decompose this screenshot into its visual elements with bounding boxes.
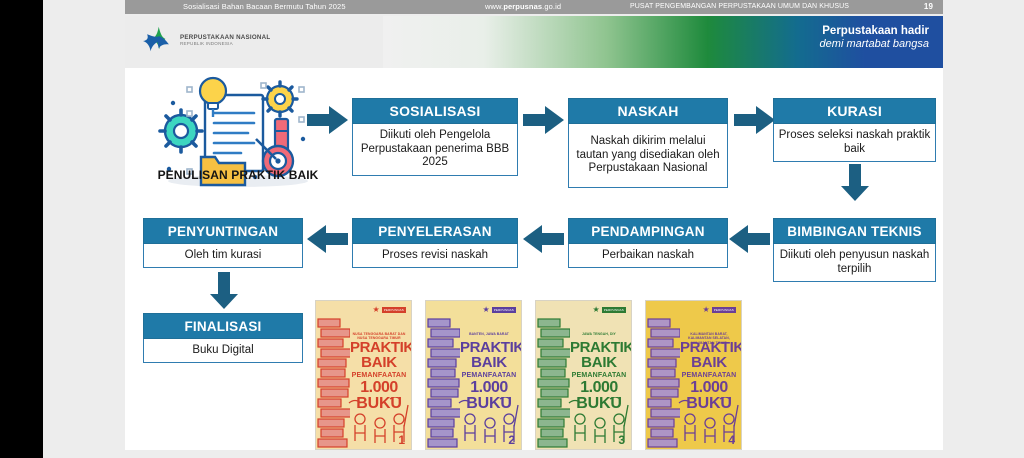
book-title-l4: 1.000 bbox=[350, 380, 408, 396]
top-bar-url: www.perpusnas.go.id bbox=[485, 0, 561, 14]
document-top-bar: Sosialisasi Bahan Bacaan Bermutu Tahun 2… bbox=[125, 0, 943, 14]
node-bimbingan-teknis[interactable]: BIMBINGAN TEKNIS Diikuti oleh penyusun n… bbox=[773, 218, 936, 282]
book-number: 2 bbox=[508, 433, 515, 447]
book-title-l2: BAIK bbox=[680, 355, 738, 371]
book-cover-2[interactable]: ★PERPUSNASBANTEN, JAWA BARATPRAKTIKBAIKP… bbox=[425, 300, 522, 450]
node-pendampingan-body: Perbaikan naskah bbox=[568, 244, 728, 268]
book-stack-illustration bbox=[426, 315, 460, 450]
star-icon: ★ bbox=[483, 306, 490, 314]
tagline-line-1: Perpustakaan hadir bbox=[779, 25, 929, 38]
publisher-tag: PERPUSNAS bbox=[492, 307, 516, 313]
perpusnas-star-icon bbox=[141, 24, 175, 58]
publisher-tag: PERPUSNAS bbox=[382, 307, 406, 313]
arrow-down-1 bbox=[840, 164, 870, 202]
slide-header-band: PERPUSTAKAAN NASIONAL REPUBLIK INDONESIA… bbox=[125, 16, 943, 68]
header-tagline: Perpustakaan hadir demi martabat bangsa bbox=[779, 25, 929, 51]
node-pendampingan[interactable]: PENDAMPINGAN Perbaikan naskah bbox=[568, 218, 728, 268]
publisher-tag: PERPUSNAS bbox=[602, 307, 626, 313]
book-cover-1[interactable]: ★PERPUSNASNUSA TENGGARA BARAT DAN NUSA T… bbox=[315, 300, 412, 450]
slide-canvas: PERPUSTAKAAN NASIONAL REPUBLIK INDONESIA… bbox=[125, 16, 943, 450]
logo-wordmark: PERPUSTAKAAN NASIONAL REPUBLIK INDONESIA bbox=[180, 35, 270, 46]
illustration-caption: PENULISAN PRAKTIK BAIK bbox=[133, 168, 343, 182]
node-sosialisasi-body: Diikuti oleh Pengelola Perpustakaan pene… bbox=[352, 124, 518, 176]
arrow-right-2 bbox=[523, 105, 565, 135]
node-naskah-title: NASKAH bbox=[568, 98, 728, 124]
book-stack-illustration bbox=[536, 315, 570, 450]
book-region-label: JAWA TENGAH, DIY bbox=[572, 332, 626, 336]
node-bimbingan-teknis-body: Diikuti oleh penyusun naskah terpilih bbox=[773, 244, 936, 282]
book-publisher-logo: ★PERPUSNAS bbox=[703, 306, 736, 314]
node-sosialisasi[interactable]: SOSIALISASI Diikuti oleh Pengelola Perpu… bbox=[352, 98, 518, 176]
node-finalisasi[interactable]: FINALISASI Buku Digital bbox=[143, 313, 303, 363]
book-publisher-logo: ★PERPUSNAS bbox=[373, 306, 406, 314]
arrow-left-1 bbox=[729, 224, 771, 254]
book-title-l2: BAIK bbox=[350, 355, 408, 371]
perpusnas-logo: PERPUSTAKAAN NASIONAL REPUBLIK INDONESIA bbox=[141, 24, 270, 58]
node-kurasi-title: KURASI bbox=[773, 98, 936, 124]
book-title-l1: PRAKTIK bbox=[460, 340, 518, 355]
book-title-l2: BAIK bbox=[570, 355, 628, 371]
node-naskah-body: Naskah dikirim melalui tautan yang dised… bbox=[568, 124, 728, 188]
process-flow-diagram: PENULISAN PRAKTIK BAIK SOSIALISASI Diiku… bbox=[125, 68, 943, 450]
book-title-l4: 1.000 bbox=[570, 380, 628, 396]
node-penyuntingan-body: Oleh tim kurasi bbox=[143, 244, 303, 268]
book-title-l1: PRAKTIK bbox=[570, 340, 628, 355]
arrow-left-3 bbox=[307, 224, 349, 254]
book-title-l2: BAIK bbox=[460, 355, 518, 371]
publisher-tag: PERPUSNAS bbox=[712, 307, 736, 313]
node-kurasi[interactable]: KURASI Proses seleksi naskah praktik bai… bbox=[773, 98, 936, 162]
book-number: 3 bbox=[618, 433, 625, 447]
star-icon: ★ bbox=[593, 306, 600, 314]
node-penyuntingan-title: PENYUNTINGAN bbox=[143, 218, 303, 244]
url-bold: perpusnas bbox=[503, 2, 542, 11]
book-publisher-logo: ★PERPUSNAS bbox=[593, 306, 626, 314]
book-number: 4 bbox=[728, 433, 735, 447]
node-penyelerasan-title: PENYELERASAN bbox=[352, 218, 518, 244]
book-title-l4: 1.000 bbox=[460, 380, 518, 396]
logo-line-2: REPUBLIK INDONESIA bbox=[180, 42, 270, 47]
star-icon: ★ bbox=[703, 306, 710, 314]
node-penyuntingan[interactable]: PENYUNTINGAN Oleh tim kurasi bbox=[143, 218, 303, 268]
node-naskah[interactable]: NASKAH Naskah dikirim melalui tautan yan… bbox=[568, 98, 728, 188]
node-sosialisasi-title: SOSIALISASI bbox=[352, 98, 518, 124]
book-title-l4: 1.000 bbox=[680, 380, 738, 396]
book-publisher-logo: ★PERPUSNAS bbox=[483, 306, 516, 314]
node-finalisasi-title: FINALISASI bbox=[143, 313, 303, 339]
node-pendampingan-title: PENDAMPINGAN bbox=[568, 218, 728, 244]
url-prefix: www. bbox=[485, 2, 503, 11]
arrow-left-2 bbox=[523, 224, 565, 254]
arrow-down-2 bbox=[209, 272, 239, 310]
star-icon: ★ bbox=[373, 306, 380, 314]
book-cover-3[interactable]: ★PERPUSNASJAWA TENGAH, DIYPRAKTIKBAIKPEM… bbox=[535, 300, 632, 450]
top-bar-unit: PUSAT PENGEMBANGAN PERPUSTAKAAN UMUM DAN… bbox=[630, 0, 849, 14]
node-penyelerasan[interactable]: PENYELERASAN Proses revisi naskah bbox=[352, 218, 518, 268]
url-suffix: .go.id bbox=[542, 2, 561, 11]
book-cover-4[interactable]: ★PERPUSNASKALIMANTAN BARAT, KALIMANTAN S… bbox=[645, 300, 742, 450]
tagline-line-2: demi martabat bangsa bbox=[779, 38, 929, 51]
book-stack-illustration bbox=[316, 315, 350, 450]
book-stack-illustration bbox=[646, 315, 680, 450]
top-bar-title: Sosialisasi Bahan Bacaan Bermutu Tahun 2… bbox=[183, 0, 346, 14]
viewer-left-black-bar bbox=[0, 0, 43, 458]
arrow-right-1 bbox=[307, 105, 349, 135]
arrow-right-3 bbox=[734, 105, 776, 135]
book-number: 1 bbox=[398, 433, 405, 447]
node-kurasi-body: Proses seleksi naskah praktik baik bbox=[773, 124, 936, 162]
top-bar-page-number: 19 bbox=[924, 0, 933, 14]
node-bimbingan-teknis-title: BIMBINGAN TEKNIS bbox=[773, 218, 936, 244]
book-title-l1: PRAKTIK bbox=[350, 340, 408, 355]
book-region-label: BANTEN, JAWA BARAT bbox=[462, 332, 516, 336]
book-title-l1: PRAKTIK bbox=[680, 340, 738, 355]
node-finalisasi-body: Buku Digital bbox=[143, 339, 303, 363]
node-penyelerasan-body: Proses revisi naskah bbox=[352, 244, 518, 268]
